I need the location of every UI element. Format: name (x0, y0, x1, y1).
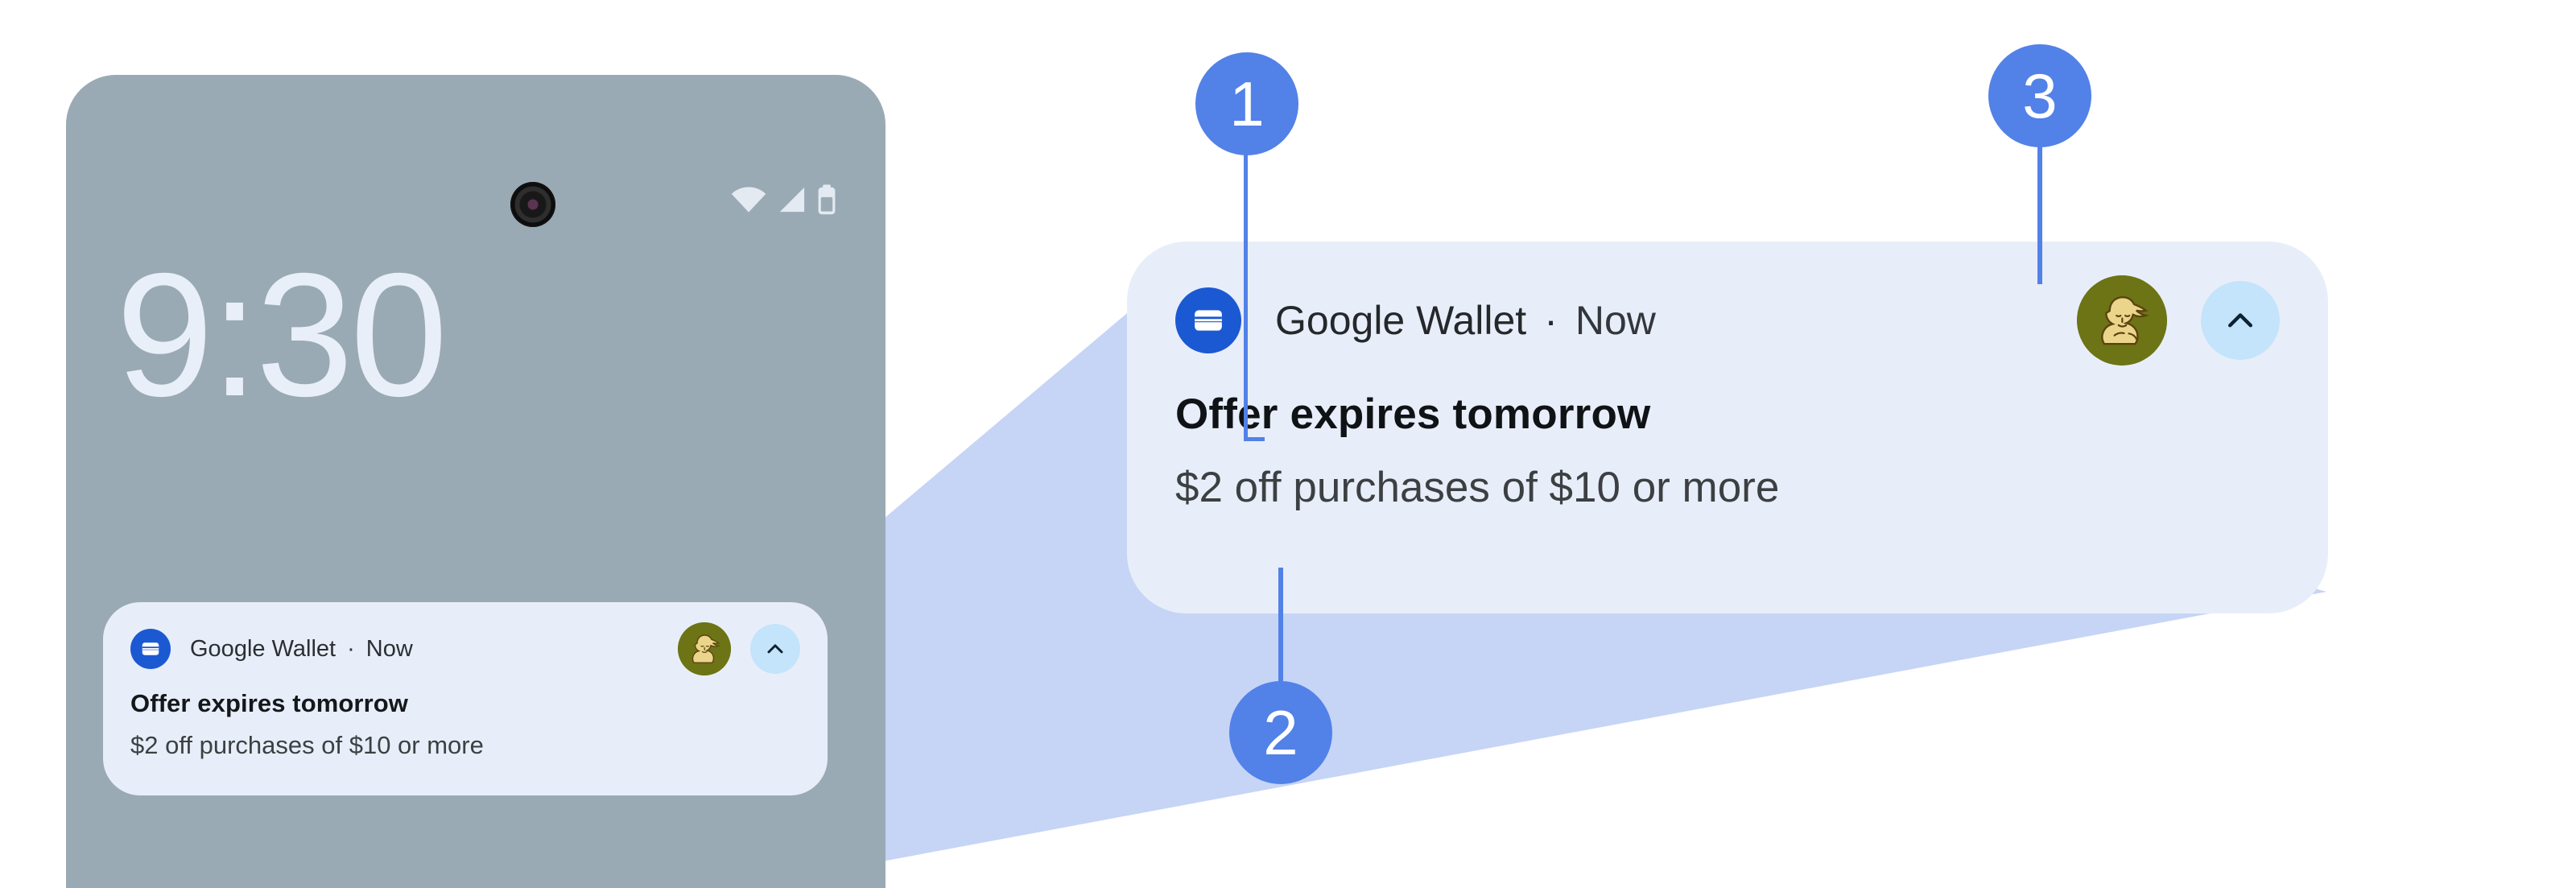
callout-leader-line-1 (1244, 151, 1248, 441)
google-wallet-icon (1175, 287, 1241, 353)
callout-leader-elbow-1 (1244, 437, 1265, 441)
callout-badge-3[interactable]: 3 (1988, 44, 2091, 147)
notification-timestamp: Now (1575, 297, 1656, 344)
notification-separator: · (1544, 297, 1558, 344)
notification-header-large: Google Wallet · Now (1175, 283, 2280, 357)
front-camera-icon (510, 182, 555, 227)
notification-card-large[interactable]: Google Wallet · Now (1127, 242, 2328, 613)
notification-title: Offer expires tomorrow (1175, 390, 2280, 439)
chevron-up-icon (763, 637, 787, 661)
google-wallet-icon (130, 629, 171, 669)
expand-button-large[interactable] (2201, 281, 2280, 360)
notification-header-small: Google Wallet · Now (130, 626, 800, 671)
callout-badge-2[interactable]: 2 (1229, 681, 1332, 784)
callout-leader-line-3 (2037, 143, 2042, 284)
notification-app-name: Google Wallet (190, 636, 336, 663)
cellular-signal-icon (776, 186, 807, 213)
screenshot-stage: 9:30 Google Wallet · Now (0, 0, 2576, 863)
battery-icon (816, 184, 837, 215)
notification-app-name: Google Wallet (1275, 297, 1526, 344)
notification-separator: · (347, 636, 355, 663)
notification-card-small[interactable]: Google Wallet · Now (103, 602, 828, 795)
callout-badge-1[interactable]: 1 (1195, 52, 1298, 155)
lockscreen-clock: 9:30 (116, 248, 444, 423)
notification-timestamp: Now (366, 636, 413, 663)
phone-mockup: 9:30 Google Wallet · Now (66, 75, 885, 888)
chevron-up-icon (2221, 301, 2260, 340)
status-bar (731, 184, 837, 215)
notification-body: $2 off purchases of $10 or more (1175, 463, 2280, 512)
callout-leader-line-2 (1278, 568, 1283, 684)
merchant-avatar (2077, 275, 2167, 366)
expand-button-small[interactable] (750, 624, 800, 674)
notification-body: $2 off purchases of $10 or more (130, 731, 800, 760)
wifi-icon (731, 186, 766, 213)
notification-title: Offer expires tomorrow (130, 689, 800, 718)
merchant-avatar (678, 622, 731, 675)
